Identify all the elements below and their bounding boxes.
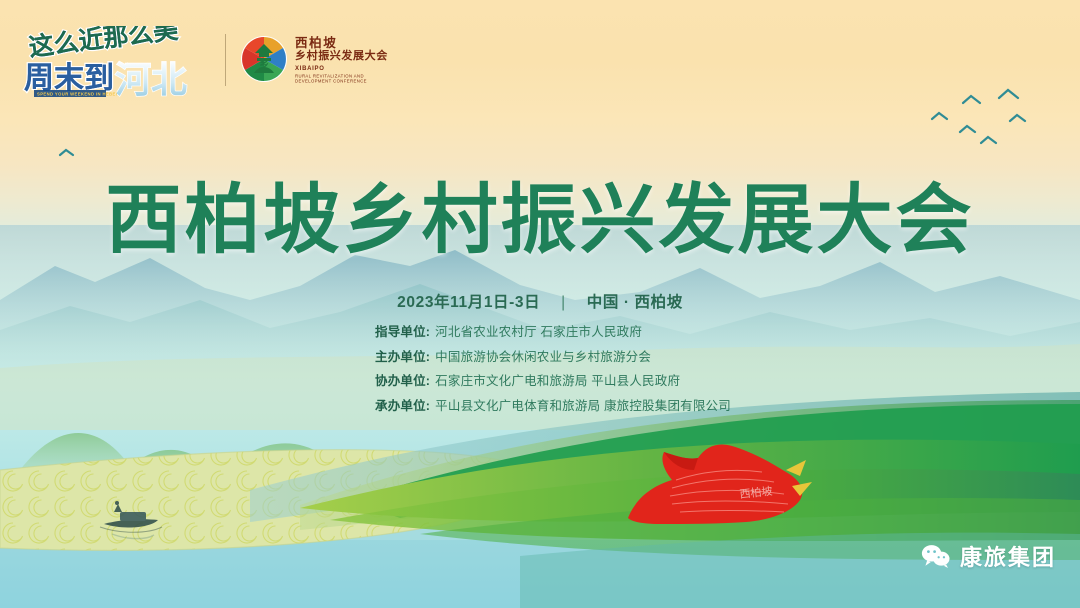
svg-text:这么近那么美: 这么近那么美 [27,26,179,62]
wechat-icon [921,543,951,569]
xibaipo-logo-en-line3: DEVELOPMENT CONFERENCE [295,79,405,85]
hebei-tourism-slogan-logo: 这么近那么美 这么近那么美 周末到 周末到 河北 SPEND YOUR WEEK… [22,26,212,98]
organizer-row: 承办单位: 平山县文化广电体育和旅游局 康旅控股集团有限公司 [375,399,795,414]
svg-text:乡: 乡 [259,58,269,71]
xibaipo-conference-logo: 乡 西柏坡 乡村振兴发展大会 XIBAIPO RURAL REVITALIZAT… [240,34,388,84]
organizer-value: 平山县文化广电体育和旅游局 康旅控股集团有限公司 [435,399,731,414]
logo-divider [225,34,226,86]
xibaipo-logo-cn-line1: 西柏坡 [295,36,388,50]
xibaipo-emblem-icon: 乡 [240,35,288,83]
bird-flock [60,90,1025,155]
organizer-row: 指导单位: 河北省农业农村厅 石家庄市人民政府 [375,325,795,340]
organizer-row: 协办单位: 石家庄市文化广电和旅游局 平山县人民政府 [375,374,795,389]
date-location-separator: | [561,294,566,312]
organizer-value: 中国旅游协会休闲农业与乡村旅游分会 [435,350,651,365]
svg-text:SPEND YOUR WEEKEND IN HEBEI: SPEND YOUR WEEKEND IN HEBEI [37,92,117,97]
event-location: 中国 · 西柏坡 [587,294,683,311]
organizer-label: 主办单位: [375,350,430,365]
event-date-location: 2023年11月1日-3日 | 中国 · 西柏坡 [0,290,1080,312]
page-title: 西柏坡乡村振兴发展大会 [0,158,1080,268]
wechat-watermark: 康旅集团 [921,540,1056,572]
organizer-value: 石家庄市文化广电和旅游局 平山县人民政府 [435,374,680,389]
organizer-label: 协办单位: [375,374,430,389]
wechat-account-name: 康旅集团 [960,540,1056,572]
organizer-label: 承办单位: [375,399,430,414]
organizer-value: 河北省农业农村厅 石家庄市人民政府 [435,325,642,340]
xibaipo-logo-cn-line2: 乡村振兴发展大会 [295,50,388,64]
event-date: 2023年11月1日-3日 [397,294,540,311]
svg-text:河北: 河北 [115,60,187,98]
organizer-list: 指导单位: 河北省农业农村厅 石家庄市人民政府 主办单位: 中国旅游协会休闲农业… [375,325,795,423]
organizer-row: 主办单位: 中国旅游协会休闲农业与乡村旅游分会 [375,350,795,365]
organizer-label: 指导单位: [375,325,430,340]
xibaipo-logo-en-line1: XIBAIPO [295,66,388,74]
poster-canvas: 西柏坡 [0,0,1080,608]
